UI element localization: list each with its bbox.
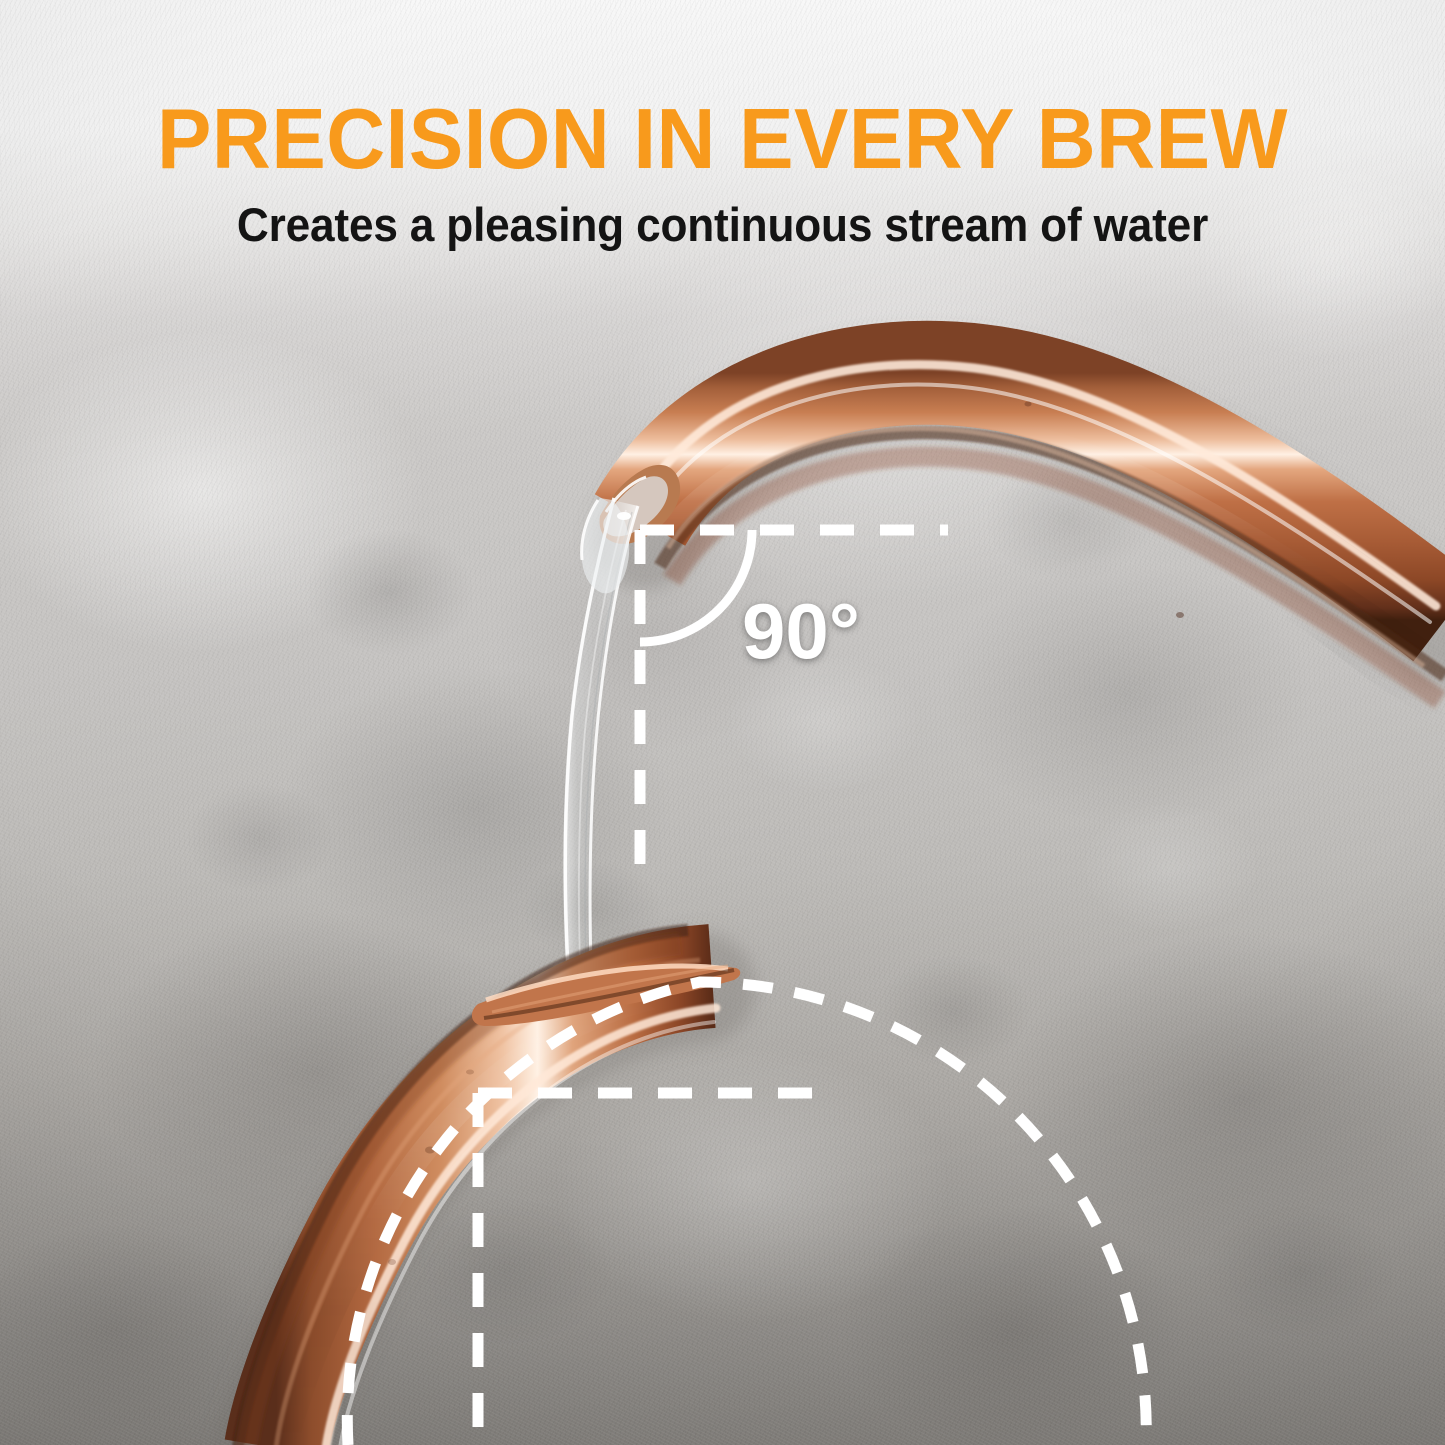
product-banner: 90° PRECISION IN EVERY BREW Creates a pl…: [0, 0, 1445, 1445]
angle-arc: [640, 530, 752, 642]
dashed-body-circle: [347, 982, 1146, 1445]
right-angle-marker-upper: [640, 530, 948, 884]
annotation-overlay: [0, 0, 1445, 1445]
right-angle-marker-lower: [478, 1093, 812, 1445]
